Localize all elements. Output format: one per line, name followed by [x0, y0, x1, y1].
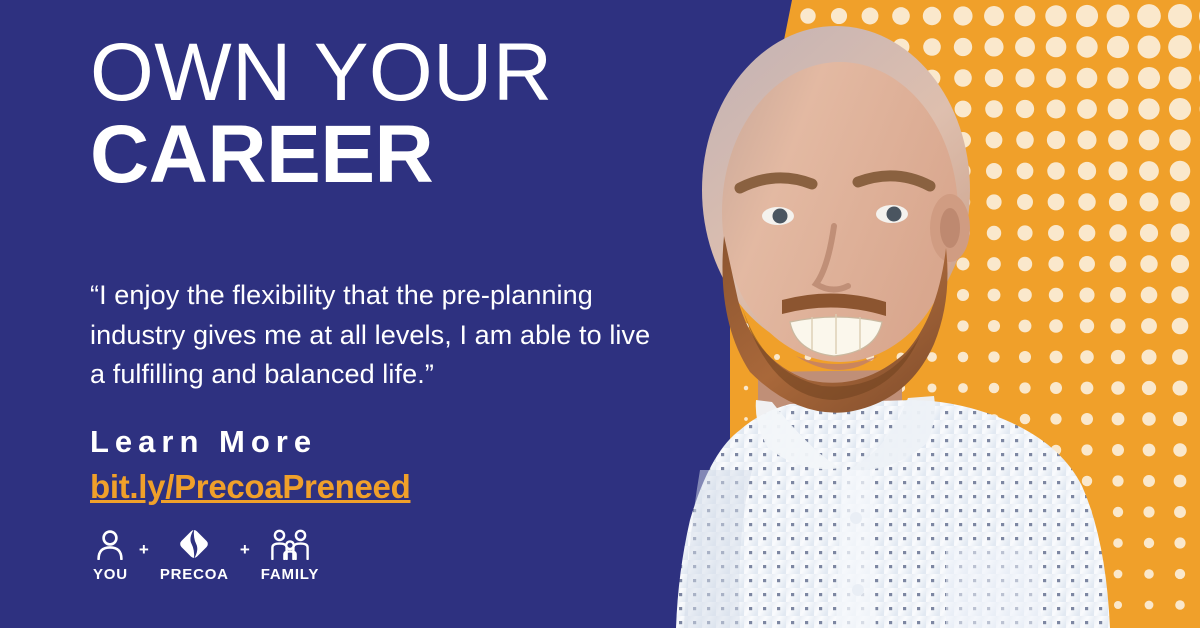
lockup-label-precoa: PRECOA — [160, 566, 229, 583]
lockup-separator-1: + — [139, 528, 149, 558]
lockup-separator-2: + — [240, 528, 250, 558]
page-title: OWN YOUR CAREER — [90, 34, 553, 194]
brand-lockup: YOU + PRECOA + — [93, 528, 319, 583]
content-column: OWN YOUR CAREER “I enjoy the flexibility… — [90, 0, 690, 628]
lockup-item-you: YOU — [93, 528, 128, 583]
person-icon — [95, 528, 125, 560]
headline-line-1: OWN YOUR — [90, 34, 553, 112]
learn-more-label: Learn More — [90, 424, 317, 460]
lockup-item-family: FAMILY — [261, 528, 319, 583]
precoa-diamond-logo-icon — [177, 528, 211, 560]
lockup-item-precoa: PRECOA — [160, 528, 229, 583]
family-group-icon — [269, 528, 311, 560]
lockup-label-you: YOU — [93, 566, 128, 583]
cta-url-link[interactable]: bit.ly/PrecoaPreneed — [90, 468, 410, 506]
testimonial-quote: “I enjoy the flexibility that the pre-pl… — [90, 276, 670, 395]
headline-line-2: CAREER — [90, 116, 553, 194]
lockup-label-family: FAMILY — [261, 566, 319, 583]
ad-banner: OWN YOUR CAREER “I enjoy the flexibility… — [0, 0, 1200, 628]
